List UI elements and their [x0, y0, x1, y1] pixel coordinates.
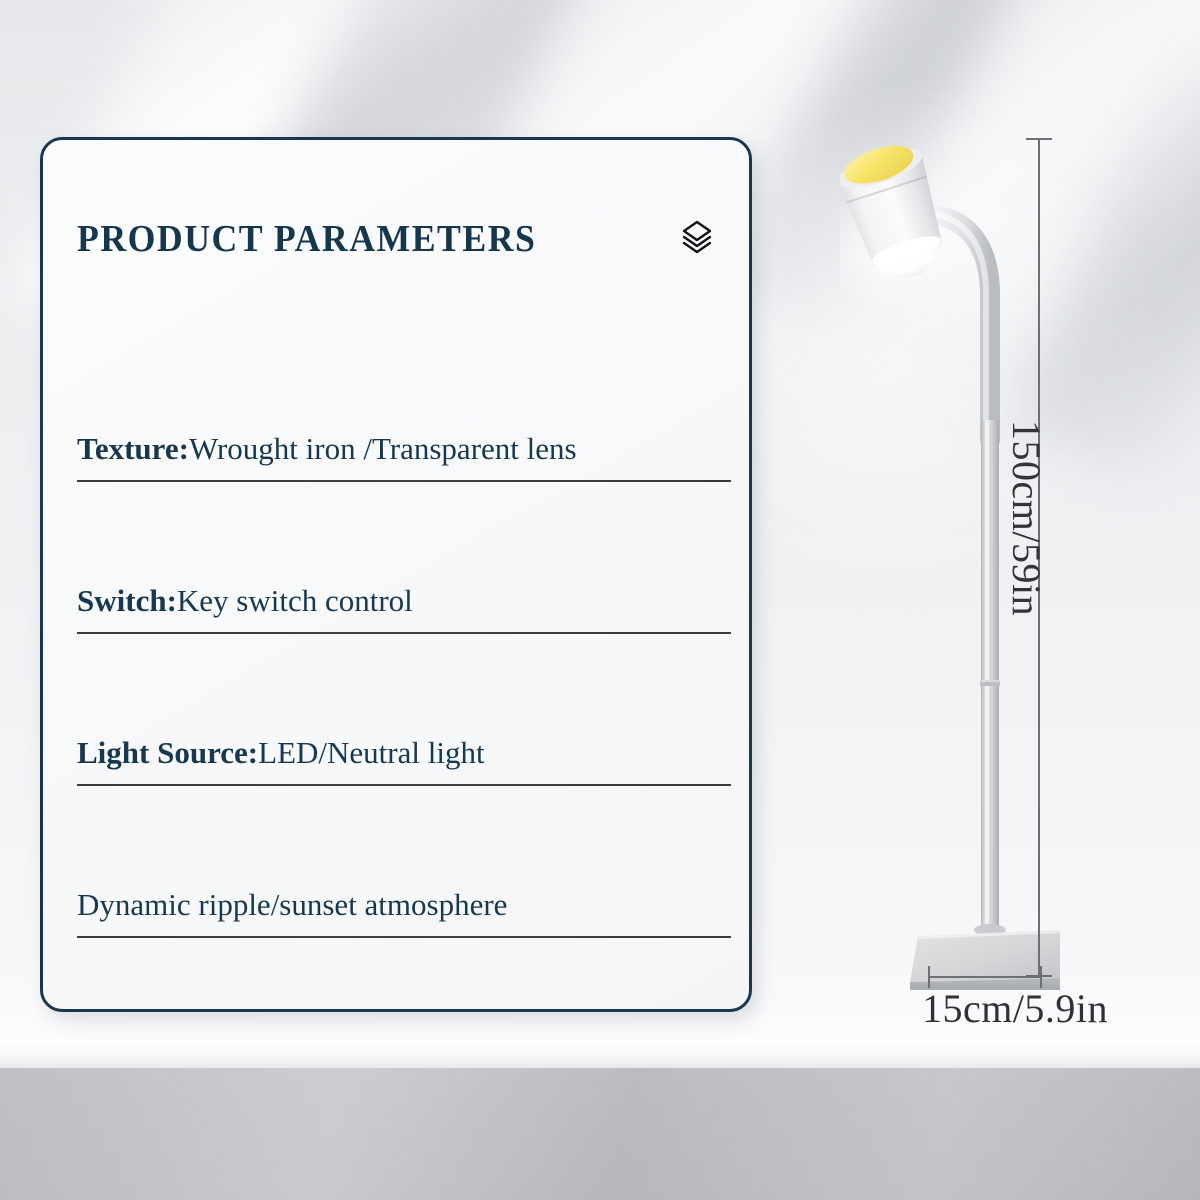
parameter-label: Light Source: [77, 735, 258, 770]
card-header: PRODUCT PARAMETERS [77, 216, 731, 261]
floor-wall-junction [0, 1040, 1200, 1070]
parameter-value: Key switch control [177, 583, 413, 618]
width-dimension-label: 15cm/5.9in [895, 985, 1135, 1032]
height-dimension-label: 150cm/59in [1003, 420, 1050, 616]
parameter-text: Light Source:LED/Neutral light [77, 736, 485, 770]
parameter-row-atmosphere: Dynamic ripple/sunset atmosphere [77, 792, 731, 944]
page-title: PRODUCT PARAMETERS [77, 217, 536, 261]
parameter-divider [77, 936, 731, 938]
parameter-divider [77, 480, 731, 482]
parameter-row-switch: Switch:Key switch control [77, 488, 731, 640]
parameter-row-texture: Texture:Wrought iron /Transparent lens [77, 336, 731, 488]
card-content: PRODUCT PARAMETERS Texture:Wrought iron [77, 140, 731, 1009]
parameter-label: Texture: [77, 431, 189, 466]
parameter-text: Texture:Wrought iron /Transparent lens [77, 432, 577, 466]
parameter-value: LED/Neutral light [258, 735, 484, 770]
parameter-row-light-source: Light Source:LED/Neutral light [77, 640, 731, 792]
floor-surface [0, 1068, 1200, 1200]
product-infographic: 150cm/59in 15cm/5.9in PRODUCT PARAMETERS [0, 0, 1200, 1200]
parameter-divider [77, 632, 731, 634]
parameter-value: Dynamic ripple/sunset atmosphere [77, 887, 507, 922]
width-dimension-line [928, 976, 1042, 978]
parameter-text: Dynamic ripple/sunset atmosphere [77, 888, 507, 922]
parameter-label: Switch: [77, 583, 177, 618]
layers-icon [677, 216, 717, 261]
parameter-value: Wrought iron /Transparent lens [189, 431, 577, 466]
product-parameters-card: PRODUCT PARAMETERS Texture:Wrought iron [40, 137, 752, 1012]
parameter-divider [77, 784, 731, 786]
parameter-list: Texture:Wrought iron /Transparent lens S… [77, 336, 731, 944]
parameter-text: Switch:Key switch control [77, 584, 413, 618]
